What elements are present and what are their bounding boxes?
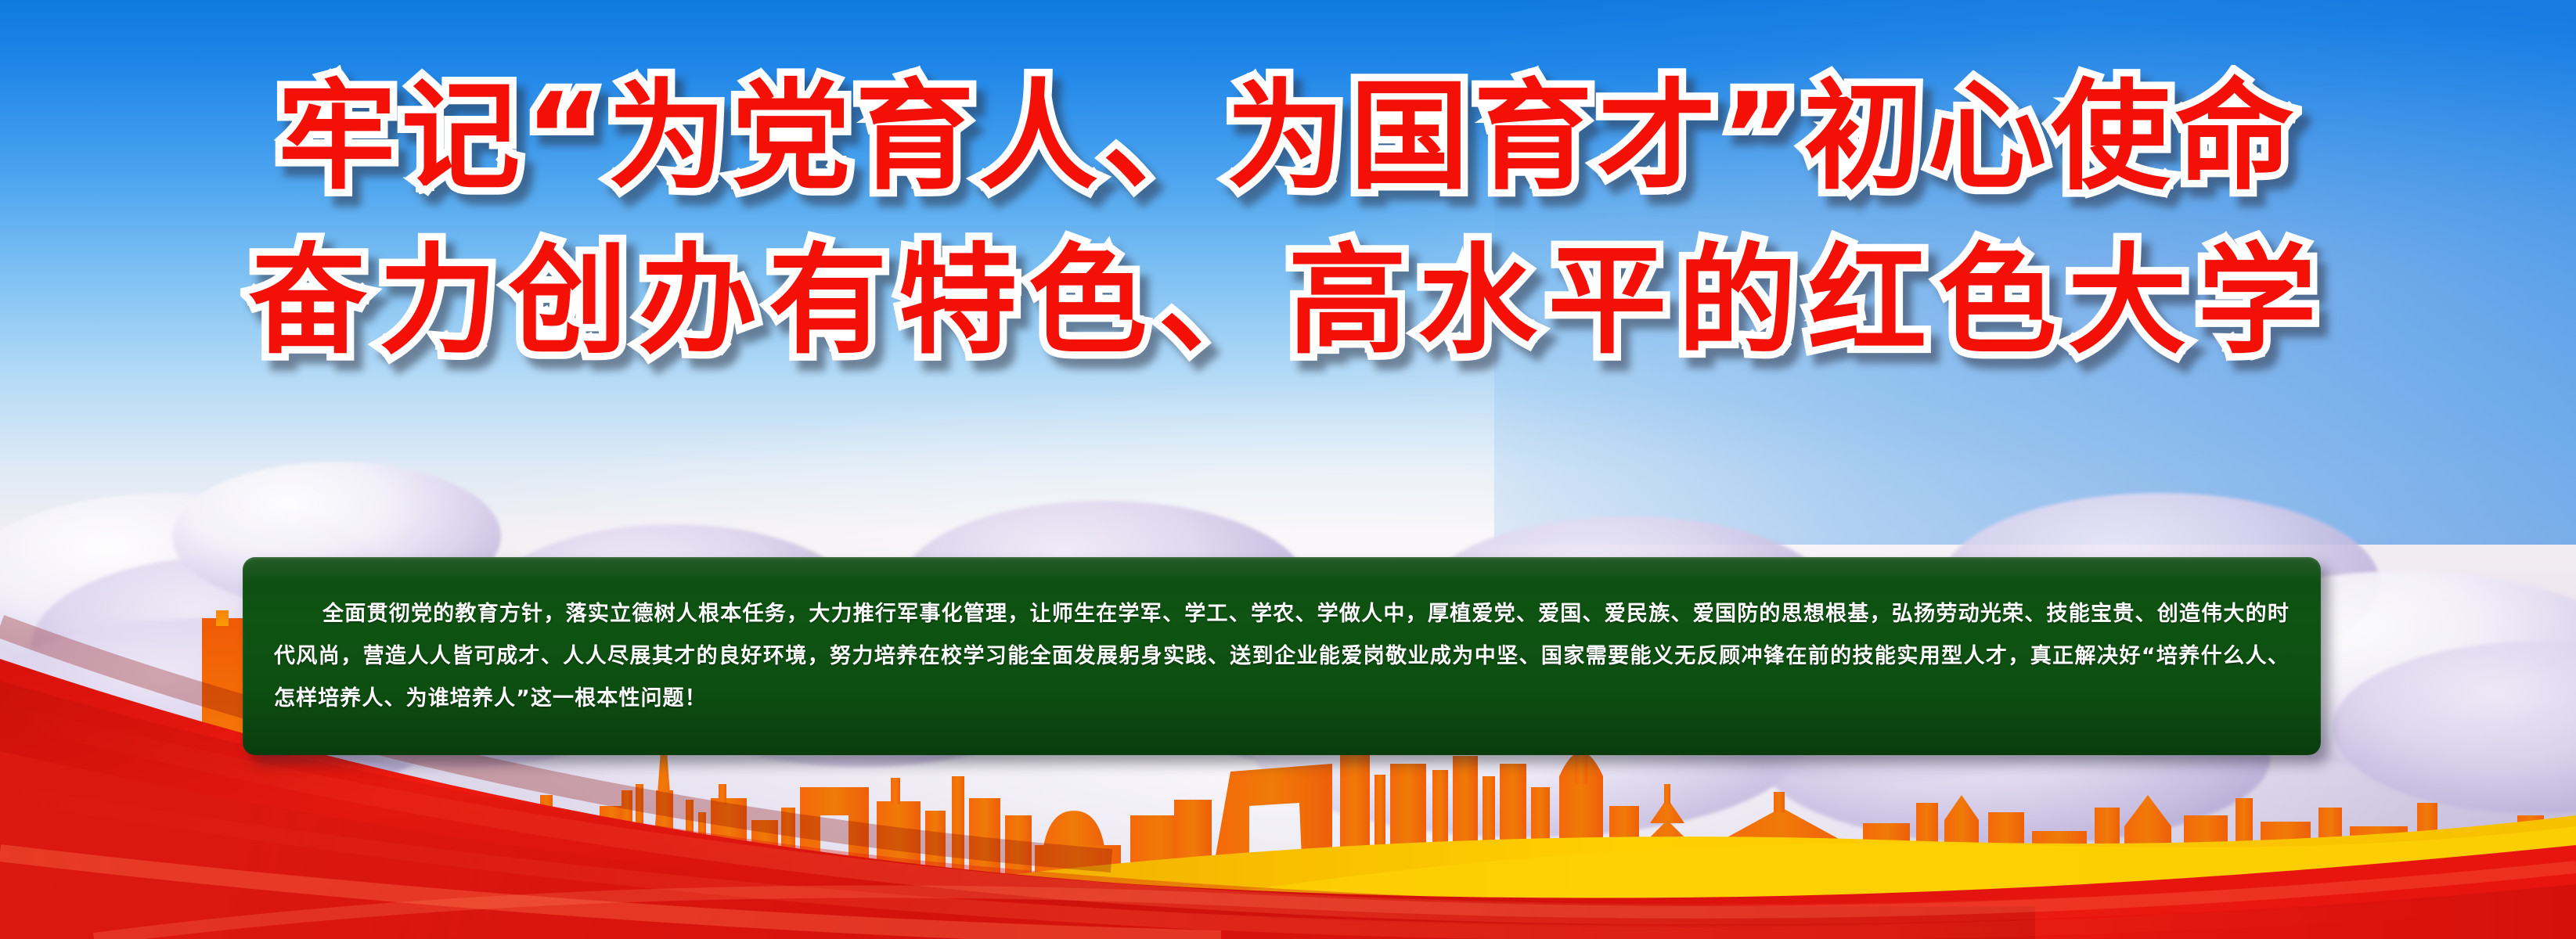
statement-text: 全面贯彻党的教育方针，落实立德树人根本任务，大力推行军事化管理，让师生在学军、学… (274, 593, 2290, 720)
headline-block: 牢记“为党育人、为国育才”初心使命 奋力创办有特色、高水平的红色大学 (0, 55, 2576, 383)
banner-poster: 牢记“为党育人、为国育才”初心使命 奋力创办有特色、高水平的红色大学 全面贯彻党… (0, 0, 2576, 939)
headline-line-1: 牢记“为党育人、为国育才”初心使命 (0, 55, 2576, 219)
statement-box: 全面贯彻党的教育方针，落实立德树人根本任务，大力推行军事化管理，让师生在学军、学… (243, 557, 2321, 755)
headline-line-2: 奋力创办有特色、高水平的红色大学 (0, 219, 2576, 383)
